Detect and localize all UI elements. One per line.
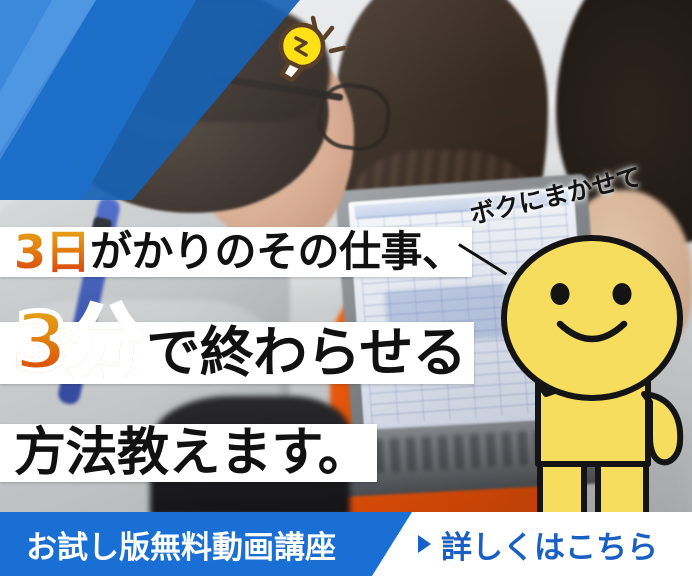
promo-banner: 3日 がかりのその仕事、 ボクにまかせて 3分 で終わらせる 方法教えます。	[0, 0, 692, 576]
yellow-mascot-character	[480, 232, 692, 532]
headline-line-1-text: がかりのその仕事、	[90, 231, 464, 273]
headline-line-2: 3分 で終わらせる	[0, 322, 474, 384]
mascot-eye-right	[613, 283, 632, 305]
play-triangle-icon	[418, 535, 431, 553]
cta-details-link[interactable]: 詳しくはこちら	[418, 512, 658, 576]
cta-bar[interactable]: お試し版無料動画講座 詳しくはこちら	[0, 512, 692, 576]
cta-left-label[interactable]: お試し版無料動画講座	[26, 512, 336, 576]
headline-line-2-text: で終わらせる	[146, 326, 466, 380]
headline-accent-3minutes: 3分	[14, 310, 144, 377]
headline-line-3: 方法教えます。	[0, 424, 377, 482]
blue-corner-graphic	[0, 0, 300, 200]
cta-right-label: 詳しくはこちら	[441, 522, 658, 567]
lightbulb-icon	[258, 6, 358, 90]
headline-line-3-text: 方法教えます。	[14, 427, 369, 479]
headline-line-1: 3日 がかりのその仕事、	[0, 227, 472, 277]
headline-accent-3days: 3日	[14, 229, 90, 275]
mascot-eye-left	[551, 283, 570, 305]
